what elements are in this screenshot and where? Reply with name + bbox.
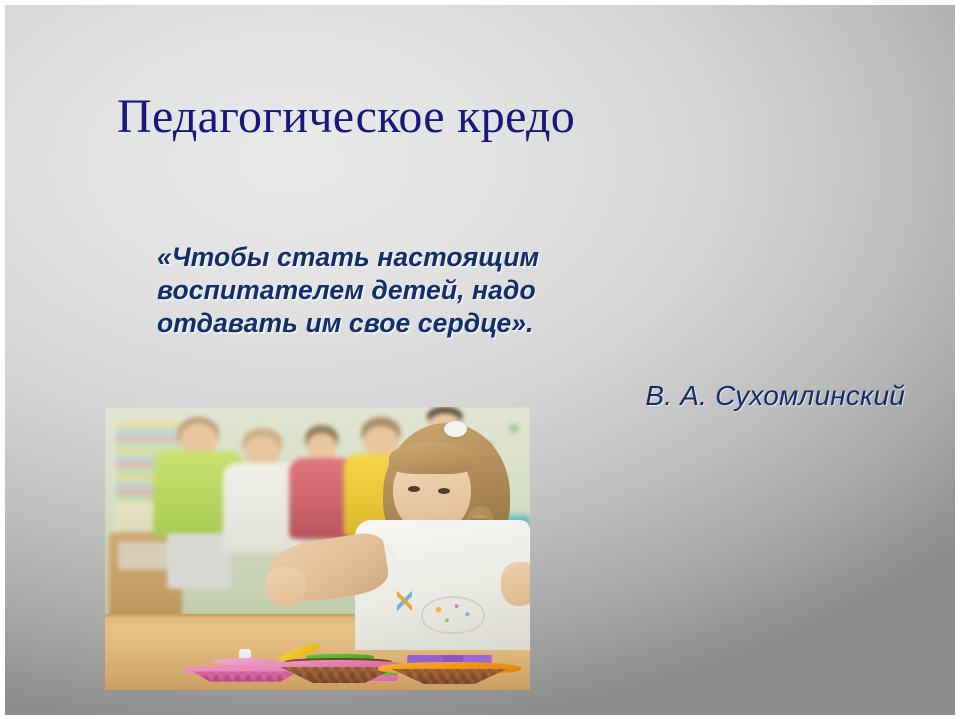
tshirt-print-x-icon	[397, 591, 413, 612]
girl-hand-right	[501, 562, 530, 606]
girl-hair-tie	[444, 421, 466, 437]
quote-block: «Чтобы стать настоящим воспитателем дете…	[157, 241, 717, 340]
tshirt-print-icon	[421, 596, 485, 634]
toy-cone	[386, 669, 514, 684]
quote-line-3: отдавать им свое сердце».	[157, 307, 717, 340]
girl-hand-left	[265, 567, 306, 606]
slide-frame: Педагогическое кредо «Чтобы стать настоя…	[0, 0, 960, 720]
toy-cupcake-orange	[386, 656, 514, 684]
foreground-girl	[326, 418, 530, 650]
girl-fringe	[389, 442, 475, 474]
quote-line-1: «Чтобы стать настоящим	[157, 241, 717, 274]
classroom-photo	[105, 407, 530, 690]
photo-scene	[105, 407, 530, 690]
page-title: Педагогическое кредо	[117, 91, 837, 143]
slide-canvas: Педагогическое кредо «Чтобы стать настоя…	[5, 5, 955, 715]
quote-line-2: воспитателем детей, надо	[157, 274, 717, 307]
girl-eye	[408, 486, 420, 492]
